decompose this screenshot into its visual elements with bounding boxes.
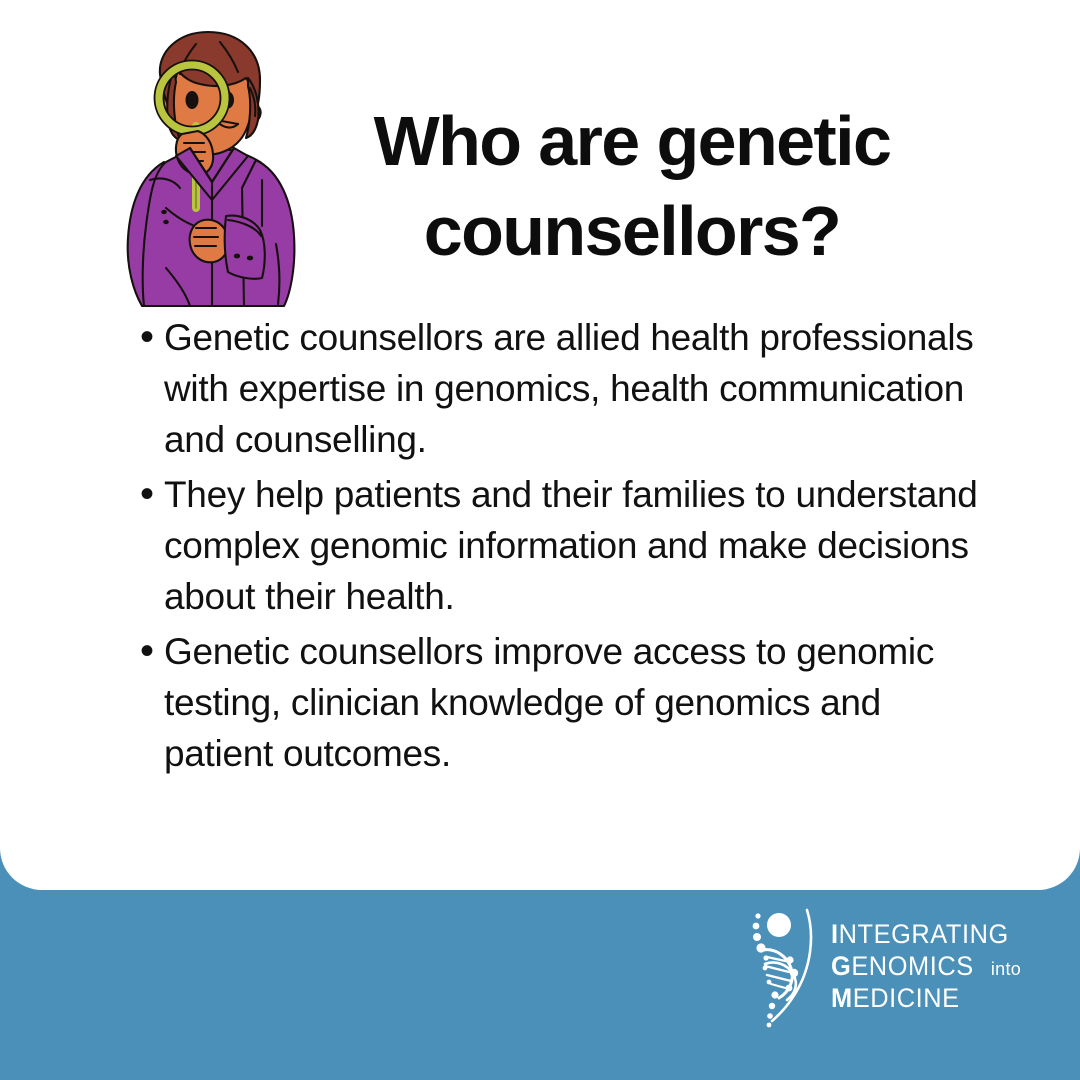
list-item-text: Genetic counsellors are allied health pr…: [164, 312, 990, 465]
content-card: Who are genetic counsellors? • Genetic c…: [0, 0, 1080, 890]
page-title: Who are genetic counsellors?: [332, 96, 932, 276]
list-item-text: Genetic counsellors improve access to ge…: [164, 626, 990, 779]
infographic-canvas: Who are genetic counsellors? • Genetic c…: [0, 0, 1080, 1080]
page-title-line-2: counsellors?: [332, 186, 932, 276]
logo-cap-m: M: [831, 983, 853, 1013]
brand-logo-wordmark: INTEGRATING GENOMICS into MEDICINE: [825, 921, 1021, 1012]
list-item-text: They help patients and their families to…: [164, 469, 990, 622]
dna-helix-icon: [745, 902, 825, 1030]
footer-band: INTEGRATING GENOMICS into MEDICINE: [0, 890, 1080, 1080]
logo-text-into: into: [983, 960, 1021, 978]
logo-cap-i: I: [831, 919, 839, 949]
logo-text-genomics: ENOMICS: [851, 951, 973, 981]
bullet-list: • Genetic counsellors are allied health …: [130, 312, 990, 783]
list-item: • Genetic counsellors are allied health …: [130, 312, 990, 465]
logo-text-integrating: NTEGRATING: [839, 919, 1009, 949]
page-title-line-1: Who are genetic: [332, 96, 932, 186]
logo-cap-g: G: [831, 951, 851, 981]
brand-logo: INTEGRATING GENOMICS into MEDICINE: [745, 902, 1000, 1030]
list-item: • They help patients and their families …: [130, 469, 990, 622]
bullet-marker-icon: •: [130, 626, 164, 677]
list-item: • Genetic counsellors improve access to …: [130, 626, 990, 779]
bullet-marker-icon: •: [130, 312, 164, 363]
person-with-magnifying-glass-illustration: [104, 30, 320, 318]
logo-line-genomics: GENOMICS into: [831, 953, 1021, 980]
logo-line-integrating: INTEGRATING: [831, 921, 1021, 948]
logo-text-medicine: EDICINE: [853, 983, 960, 1013]
bullet-marker-icon: •: [130, 469, 164, 520]
logo-line-medicine: MEDICINE: [831, 985, 1021, 1012]
